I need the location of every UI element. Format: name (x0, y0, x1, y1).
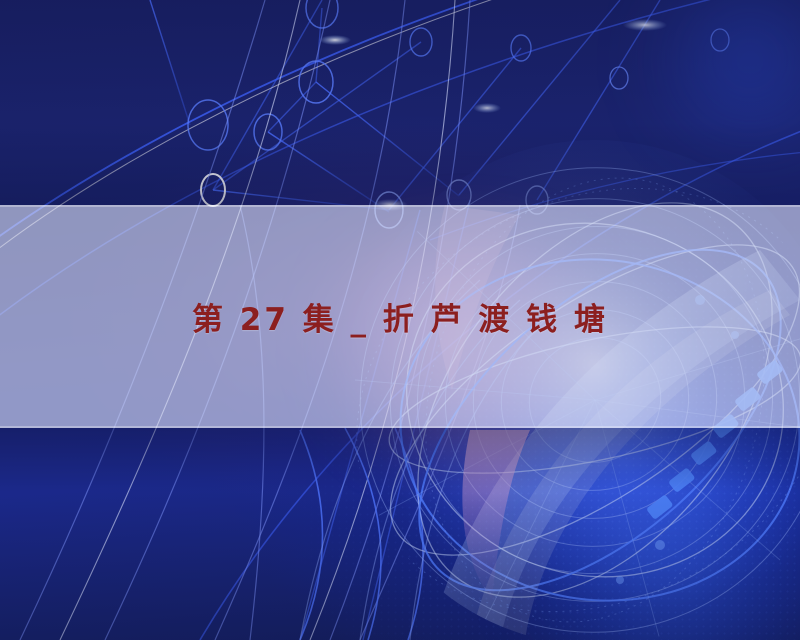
bottom-shade-overlay (0, 428, 800, 640)
thumbnail-canvas: 0100110010110100011010010101011010010110… (0, 0, 800, 640)
top-shade-overlay (0, 0, 800, 205)
title-band: 第 27 集 _ 折 芦 渡 钱 塘 (0, 205, 800, 428)
episode-title: 第 27 集 _ 折 芦 渡 钱 塘 (192, 294, 608, 339)
band-bottom-edge (0, 426, 800, 428)
band-top-edge (0, 205, 800, 207)
